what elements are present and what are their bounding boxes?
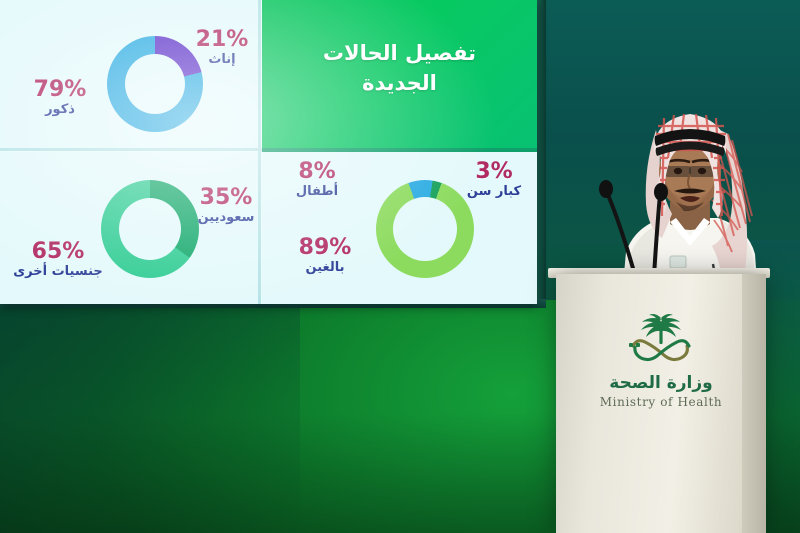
projection-screen: تفصيل الحالات الجديدة 21% إناث 79% ذكور	[0, 0, 537, 304]
gender-female-percent: 21%	[186, 28, 258, 51]
nationality-label-other: 65% جنسيات أخرى	[8, 240, 108, 279]
microphone-left-head	[599, 180, 613, 198]
logo-text-arabic: وزارة الصحة	[586, 373, 736, 393]
nationality-saudi-name: سعوديين	[188, 211, 264, 225]
panel-divider-vertical	[258, 0, 261, 304]
microphone-right-head	[654, 183, 668, 201]
nationality-other-name: جنسيات أخرى	[8, 265, 108, 279]
age-label-elderly: 3% كبار سن	[456, 160, 532, 199]
nationality-saudi-percent: 35%	[188, 186, 264, 209]
age-children-name: أطفال	[280, 185, 354, 199]
age-adults-percent: 89%	[284, 236, 366, 259]
logo-text-english: Ministry of Health	[586, 395, 736, 409]
nationality-label-saudi: 35% سعوديين	[188, 186, 264, 225]
nationality-donut-hole	[119, 198, 181, 260]
age-label-children: 8% أطفال	[280, 160, 354, 199]
gender-donut-hole	[125, 54, 185, 114]
age-label-adults: 89% بالغين	[284, 236, 366, 275]
slide-title-line2: الجديدة	[362, 71, 437, 95]
slide-title-line1: تفصيل الحالات	[323, 41, 476, 65]
gender-male-percent: 79%	[20, 78, 100, 101]
age-elderly-percent: 3%	[456, 160, 532, 183]
nationality-donut-chart	[101, 180, 199, 278]
gender-male-name: ذكور	[20, 103, 100, 117]
ministry-of-health-logo: وزارة الصحة Ministry of Health	[586, 312, 736, 436]
screenshot-stage: تفصيل الحالات الجديدة 21% إناث 79% ذكور	[0, 0, 800, 533]
age-adults-name: بالغين	[284, 261, 366, 275]
panel-title: تفصيل الحالات الجديدة	[262, 0, 537, 148]
nationality-donut-ring	[101, 180, 199, 278]
gender-female-name: إناث	[186, 53, 258, 67]
nationality-other-percent: 65%	[8, 240, 108, 263]
title-panel-underline	[262, 148, 537, 152]
gender-label-male: 79% ذكور	[20, 78, 100, 117]
palm-tree-swords-icon	[615, 312, 707, 372]
age-elderly-name: كبار سن	[456, 185, 532, 199]
gender-label-female: 21% إناث	[186, 28, 258, 67]
podium-side-panel	[742, 274, 766, 533]
screen-frame-right	[537, 0, 546, 308]
slide-title: تفصيل الحالات الجديدة	[262, 38, 537, 99]
age-donut-hole	[393, 197, 457, 261]
age-children-percent: 8%	[280, 160, 354, 183]
